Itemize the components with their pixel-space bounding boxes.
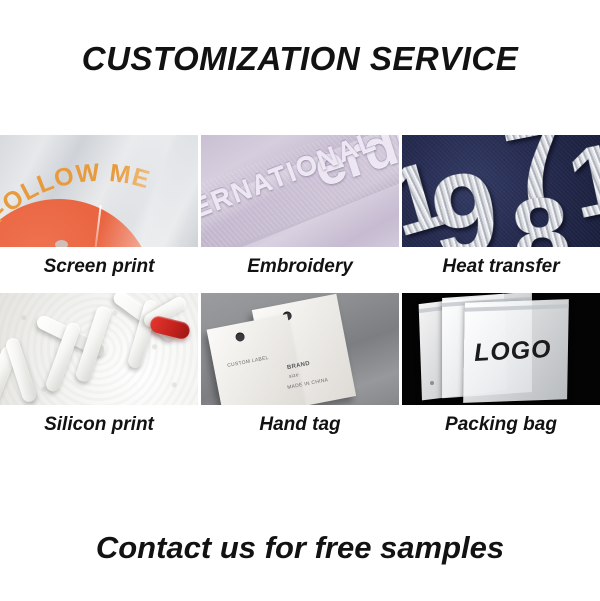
caption-embroidery: Embroidery: [247, 247, 353, 276]
caption-screen-print: Screen print: [44, 247, 155, 276]
grid-row: N'T FOLLOW ME Screen print erdi ERNATION…: [0, 135, 600, 276]
punch-hole-icon: [235, 332, 246, 343]
footer: Contact us for free samples: [0, 494, 600, 601]
embroidery-photo: erdi ERNATIONAL: [201, 135, 399, 247]
fabric-sheen: [0, 135, 198, 247]
page-title: CUSTOMIZATION SERVICE: [82, 40, 518, 78]
caption-silicon-print: Silicon print: [44, 405, 154, 434]
heat-glyph-4: 8: [508, 181, 575, 247]
grid-cell-heat-transfer[interactable]: 1 9 7 8 1 Heat transfer: [402, 135, 600, 276]
grid-cell-packing-bag[interactable]: LOGO Packing bag: [402, 293, 600, 434]
caption-packing-bag: Packing bag: [445, 405, 557, 434]
caption-heat-transfer: Heat transfer: [442, 247, 559, 276]
caption-hand-tag: Hand tag: [259, 405, 340, 434]
grid-row: Silicon print CUSTOM LABEL BRAND size MA…: [0, 293, 600, 434]
silicon-print-photo: [0, 293, 198, 405]
grid-cell-embroidery[interactable]: erdi ERNATIONAL Embroidery: [201, 135, 399, 276]
customization-service-banner: CUSTOMIZATION SERVICE N'T FOLLOW ME: [0, 0, 600, 601]
packing-bag-photo: LOGO: [402, 293, 600, 405]
heat-transfer-photo: 1 9 7 8 1: [402, 135, 600, 247]
screen-print-photo: N'T FOLLOW ME: [0, 135, 198, 247]
call-to-action-text: Contact us for free samples: [96, 530, 504, 566]
header: CUSTOMIZATION SERVICE: [0, 0, 600, 118]
hand-tag-photo: CUSTOM LABEL BRAND size MADE IN CHINA: [201, 293, 399, 405]
grid-cell-silicon-print[interactable]: Silicon print: [0, 293, 198, 434]
bag-logo-text: LOGO: [473, 335, 552, 368]
heat-glyph-2: 9: [426, 154, 504, 247]
service-grid: N'T FOLLOW ME Screen print erdi ERNATION…: [0, 135, 600, 434]
grid-cell-screen-print[interactable]: N'T FOLLOW ME Screen print: [0, 135, 198, 276]
bag-vent-hole: [430, 381, 434, 385]
grid-cell-hand-tag[interactable]: CUSTOM LABEL BRAND size MADE IN CHINA Ha…: [201, 293, 399, 434]
